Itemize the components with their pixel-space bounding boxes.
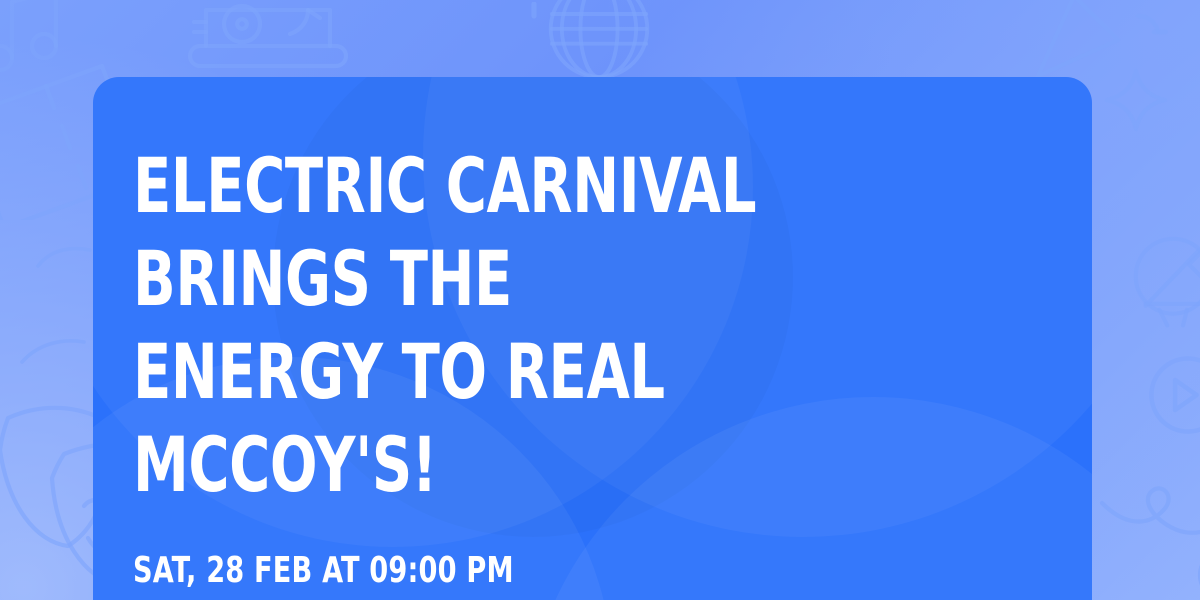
dj-turntable-icon bbox=[178, 0, 358, 86]
event-date: Sat, 28 Feb at 09:00 PM bbox=[133, 551, 898, 591]
card-content: Electric Carnival Brings The Energy To R… bbox=[93, 77, 1092, 591]
event-card: Electric Carnival Brings The Energy To R… bbox=[93, 77, 1092, 600]
music-note-icon bbox=[0, 0, 82, 80]
event-title: Electric Carnival Brings The Energy To R… bbox=[133, 139, 880, 511]
balloon-icon bbox=[1118, 225, 1200, 355]
streamer-icon bbox=[1098, 455, 1200, 600]
sparkle-icon bbox=[1145, 352, 1200, 438]
confetti-icon bbox=[18, 330, 88, 370]
confetti-icon bbox=[524, 2, 544, 28]
confetti-icon bbox=[34, 238, 94, 274]
event-banner: Electric Carnival Brings The Energy To R… bbox=[0, 0, 1200, 600]
